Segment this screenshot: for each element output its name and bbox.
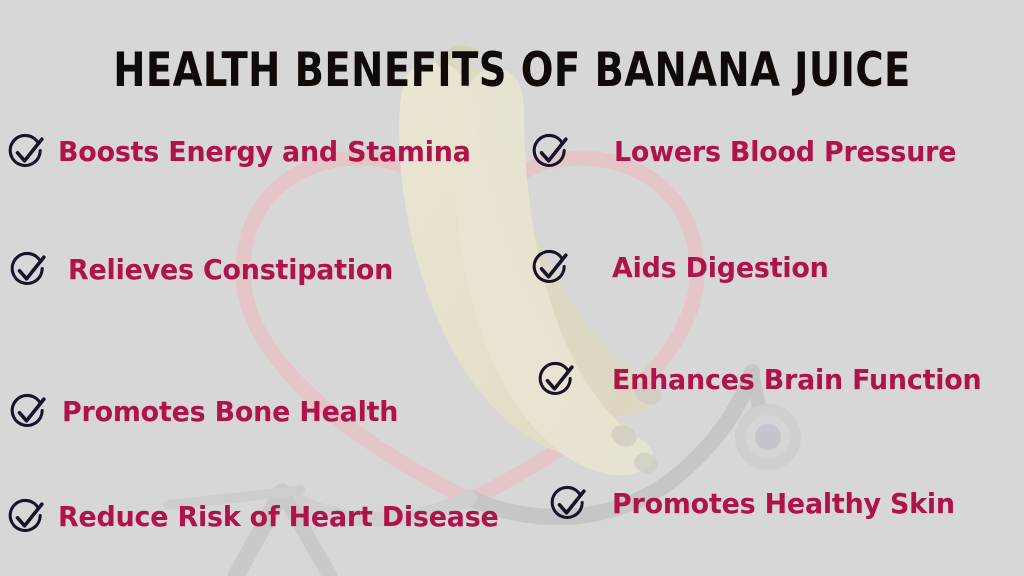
circled-check-icon: [546, 482, 590, 526]
infographic-poster: Health Benefits of Banana Juice Boosts E…: [0, 0, 1024, 576]
benefit-label: Aids Digestion: [612, 251, 829, 285]
benefit-item: Lowers Blood Pressure: [528, 130, 971, 174]
benefit-label: Enhances Brain Function: [612, 363, 982, 397]
circled-check-icon: [4, 130, 48, 174]
circled-check-icon: [534, 358, 578, 402]
page-title: Health Benefits of Banana Juice: [92, 39, 932, 103]
circled-check-icon: [6, 248, 50, 292]
benefit-item: Promotes Bone Health: [6, 390, 412, 434]
benefit-label: Promotes Bone Health: [62, 395, 398, 429]
benefit-label: Relieves Constipation: [68, 253, 393, 287]
stethoscope-chestpiece-icon: [735, 404, 801, 470]
circled-check-icon: [528, 246, 572, 290]
benefit-label: Promotes Healthy Skin: [612, 487, 955, 521]
benefit-label: Boosts Energy and Stamina: [58, 135, 471, 169]
circled-check-icon: [4, 495, 48, 539]
circled-check-icon: [6, 390, 50, 434]
benefit-item: Enhances Brain Function: [534, 358, 997, 402]
benefit-label: Reduce Risk of Heart Disease: [58, 500, 499, 534]
benefit-item: Relieves Constipation: [6, 248, 407, 292]
heart-tube-icon: [243, 158, 697, 500]
benefit-item: Boosts Energy and Stamina: [4, 130, 488, 174]
benefit-item: Promotes Healthy Skin: [546, 482, 969, 526]
benefit-item: Aids Digestion: [528, 246, 838, 290]
benefit-item: Reduce Risk of Heart Disease: [4, 495, 517, 539]
benefit-label: Lowers Blood Pressure: [614, 135, 956, 169]
circled-check-icon: [528, 130, 572, 174]
